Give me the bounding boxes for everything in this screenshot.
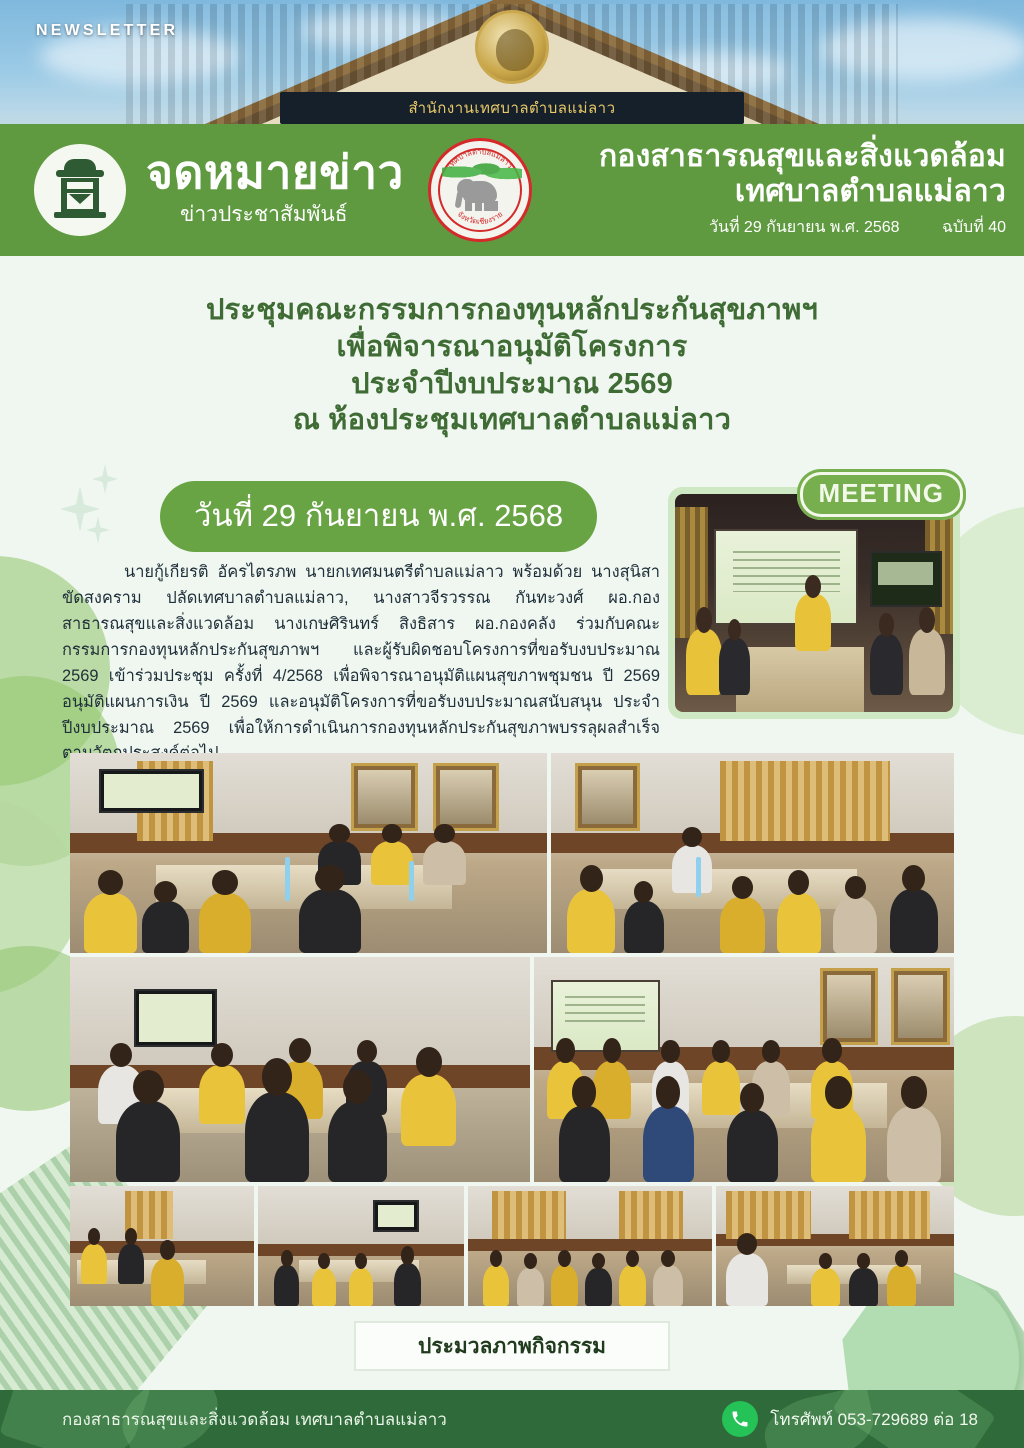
mailbox-icon xyxy=(54,159,106,221)
sparkle-decor-group xyxy=(58,458,168,568)
headline-line-1: ประชุมคณะกรรมการกองทุนหลักประกันสุขภาพฯ xyxy=(0,292,1024,329)
attendee-figure xyxy=(719,638,750,695)
phone-icon xyxy=(722,1401,758,1437)
gallery-photo[interactable] xyxy=(258,1186,464,1306)
newsletter-label: NEWSLETTER xyxy=(36,22,178,40)
gallery-row-2 xyxy=(70,957,954,1182)
sparkle-icon xyxy=(86,516,110,544)
svg-text:จังหวัดเชียงราย: จังหวัดเชียงราย xyxy=(456,210,505,226)
gallery-photo[interactable] xyxy=(551,753,954,953)
newsletter-page: สำนักงานเทศบาลตำบลแม่ลาว NEWSLETTER จดหม… xyxy=(0,0,1024,1448)
masthead-issue: ฉบับที่ 40 xyxy=(942,219,1006,236)
masthead-org-group: กองสาธารณสุขและสิ่งแวดล้อม เทศบาลตำบลแม่… xyxy=(542,140,1024,240)
gallery-photo[interactable] xyxy=(70,1186,254,1306)
building-sign-text: สำนักงานเทศบาลตำบลแม่ลาว xyxy=(408,96,615,120)
org-line-1: กองสาธารณสุขและสิ่งแวดล้อม xyxy=(542,140,1006,175)
masthead-meta: วันที่ 29 กันยายน พ.ศ. 2568 ฉบับที่ 40 xyxy=(542,215,1006,240)
headline-block: ประชุมคณะกรรมการกองทุนหลักประกันสุขภาพฯ … xyxy=(0,292,1024,439)
attendee-figure xyxy=(686,629,722,694)
attendee-figure xyxy=(870,634,903,695)
projector-screen xyxy=(714,529,859,625)
masthead-bar: จดหมายข่าว ข่าวประชาสัมพันธ์ เทศบาลตำบลแ… xyxy=(0,124,1024,256)
gallery-photo[interactable] xyxy=(70,957,530,1182)
meeting-sticker: MEETING xyxy=(797,469,966,520)
hero-photo-card: MEETING xyxy=(668,487,960,719)
seal-bottom-text: จังหวัดเชียงราย xyxy=(456,210,505,226)
gallery-photo[interactable] xyxy=(716,1186,954,1306)
gallery-caption-button[interactable]: ประมวลภาพกิจกรรม xyxy=(354,1321,670,1371)
headline-line-4: ณ ห้องประชุมเทศบาลตำบลแม่ลาว xyxy=(0,402,1024,439)
tv-screen xyxy=(870,551,942,608)
masthead-subtitle: ข่าวประชาสัมพันธ์ xyxy=(180,198,404,231)
attendee-figure xyxy=(909,629,945,694)
sparkle-icon xyxy=(92,464,118,494)
event-date-badge: วันที่ 29 กันยายน พ.ศ. 2568 xyxy=(160,481,597,552)
footer-org-text: กองสาธารณสุขและสิ่งแวดล้อม เทศบาลตำบลแม่… xyxy=(62,1406,447,1433)
footer-phone-text: โทรศัพท์ 053-729689 ต่อ 18 xyxy=(770,1406,978,1433)
org-line-2: เทศบาลตำบลแม่ลาว xyxy=(542,175,1006,210)
headline-line-2: เพื่อพิจารณาอนุมัติโครงการ xyxy=(0,329,1024,366)
footer-contact-group: โทรศัพท์ 053-729689 ต่อ 18 xyxy=(722,1401,978,1437)
royal-emblem-icon xyxy=(475,10,549,84)
masthead-title-group: จดหมายข่าว ข่าวประชาสัมพันธ์ xyxy=(146,149,404,231)
chairperson-figure xyxy=(795,594,831,651)
headline-line-3: ประจำปีงบประมาณ 2569 xyxy=(0,366,1024,403)
article-paragraph: นายกู้เกียรติ อัครไตรภพ นายกเทศมนตรีตำบล… xyxy=(62,560,660,767)
gallery-photo[interactable] xyxy=(534,957,954,1182)
municipal-seal-icon: เทศบาลตำบลแม่ลาว จังหวัดเชียงราย xyxy=(428,138,532,242)
mailbox-icon-badge xyxy=(34,144,126,236)
sparkle-icon xyxy=(60,486,100,532)
gallery-photo[interactable] xyxy=(70,753,547,953)
hero-photo xyxy=(675,494,953,712)
gallery-row-3 xyxy=(70,1186,954,1306)
gallery-photo[interactable] xyxy=(468,1186,712,1306)
gallery-row-1 xyxy=(70,753,954,953)
photo-gallery-grid xyxy=(70,753,954,1310)
masthead-date: วันที่ 29 กันยายน พ.ศ. 2568 xyxy=(709,219,900,236)
footer-bar: กองสาธารณสุขและสิ่งแวดล้อม เทศบาลตำบลแม่… xyxy=(0,1390,1024,1448)
masthead-title: จดหมายข่าว xyxy=(146,149,404,196)
meeting-table xyxy=(736,647,864,712)
building-signboard: สำนักงานเทศบาลตำบลแม่ลาว xyxy=(280,92,744,124)
elephant-icon xyxy=(457,173,503,211)
